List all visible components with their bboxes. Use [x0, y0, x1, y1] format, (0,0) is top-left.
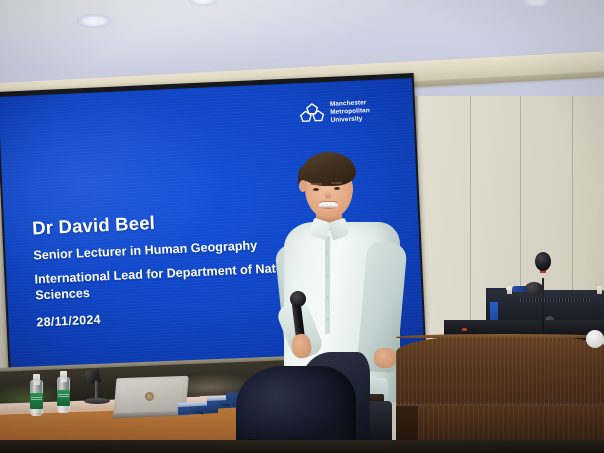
shirt-button — [326, 252, 329, 255]
bottle-label-text — [31, 396, 42, 400]
shirt-button — [326, 318, 329, 321]
desk-microphone-head-icon — [85, 369, 102, 386]
floor — [0, 440, 604, 453]
mmu-trefoil-knot-icon — [299, 100, 326, 127]
shirt-button — [326, 296, 329, 299]
presenter-eye — [334, 187, 340, 190]
slide-role-line-2-text: International Lead for Department of Nat… — [34, 260, 299, 286]
presenter-smile — [319, 202, 338, 209]
shirt-button — [326, 274, 329, 277]
water-bottle — [30, 374, 43, 416]
presenter-ear — [299, 180, 307, 192]
presenter-hair — [302, 152, 356, 186]
handheld-microphone-icon — [290, 291, 306, 307]
presentation-photo-scene: Manchester Metropolitan University Dr Da… — [0, 0, 604, 453]
bottle-cap — [33, 374, 40, 381]
presenter-right-hand — [374, 348, 396, 368]
bottle-label-text — [58, 393, 69, 397]
bottle-cap — [60, 371, 67, 378]
lectern-wood-grain — [396, 334, 604, 406]
white-round-object — [586, 330, 604, 348]
university-logo-text: Manchester Metropolitan University — [330, 99, 371, 125]
presenter-eyebrow — [311, 183, 322, 185]
presenter-eyebrow — [331, 182, 342, 184]
gooseneck-mic-head-icon — [535, 252, 551, 271]
presenter-nose — [325, 190, 331, 199]
lectern-top-edge — [396, 334, 604, 338]
ceiling-downlight-icon — [76, 14, 112, 28]
wall-small-object — [597, 286, 602, 294]
gooseneck-mic-stem — [542, 278, 544, 340]
university-logo: Manchester Metropolitan University — [299, 98, 371, 127]
slide-role-line-3-text: Sciences — [35, 286, 90, 302]
laptop-brand-logo-icon — [145, 392, 154, 401]
wall-small-object — [507, 286, 512, 294]
logo-line-3: University — [330, 115, 370, 125]
water-bottle — [57, 371, 70, 413]
presenter-eye — [313, 188, 319, 191]
av-status-led — [462, 328, 467, 331]
desk-microphone-base — [84, 398, 110, 404]
av-vent-grille — [520, 298, 590, 302]
spare-microphone-icon — [525, 282, 543, 295]
